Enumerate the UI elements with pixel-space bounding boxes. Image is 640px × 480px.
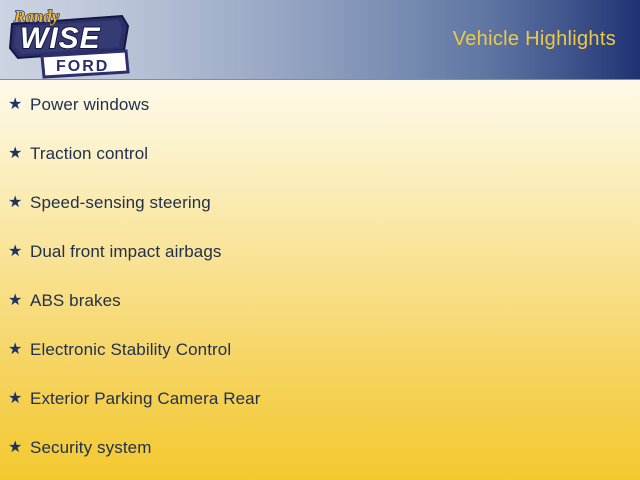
list-item: ★ ABS brakes — [0, 276, 640, 325]
slide-header: WISE Randy FORD Vehicle Highlights — [0, 0, 640, 80]
logo-ford-text: FORD — [56, 58, 109, 75]
list-item: ★ Dual front impact airbags — [0, 227, 640, 276]
logo-randy-script: Randy — [13, 7, 60, 26]
randy-wise-ford-logo: WISE Randy FORD — [4, 2, 136, 84]
feature-label: Electronic Stability Control — [30, 340, 231, 360]
vehicle-features-list: ★ Power windows ★ Traction control ★ Spe… — [0, 80, 640, 472]
star-icon: ★ — [8, 195, 30, 211]
vehicle-highlights-slide: WISE Randy FORD Vehicle Highlights ★ Pow… — [0, 0, 640, 480]
star-icon: ★ — [8, 97, 30, 113]
logo-wise-text: WISE — [20, 22, 101, 55]
star-icon: ★ — [8, 342, 30, 358]
feature-label: Exterior Parking Camera Rear — [30, 389, 261, 409]
feature-label: ABS brakes — [30, 291, 121, 311]
list-item: ★ Power windows — [0, 80, 640, 129]
list-item: ★ Electronic Stability Control — [0, 325, 640, 374]
star-icon: ★ — [8, 391, 30, 407]
feature-label: Speed-sensing steering — [30, 193, 211, 213]
star-icon: ★ — [8, 440, 30, 456]
feature-label: Dual front impact airbags — [30, 242, 221, 262]
feature-label: Traction control — [30, 144, 148, 164]
feature-label: Power windows — [30, 95, 149, 115]
star-icon: ★ — [8, 146, 30, 162]
star-icon: ★ — [8, 244, 30, 260]
list-item: ★ Traction control — [0, 129, 640, 178]
star-icon: ★ — [8, 293, 30, 309]
feature-label: Security system — [30, 438, 151, 458]
page-title: Vehicle Highlights — [453, 28, 616, 51]
list-item: ★ Speed-sensing steering — [0, 178, 640, 227]
list-item: ★ Security system — [0, 423, 640, 472]
list-item: ★ Exterior Parking Camera Rear — [0, 374, 640, 423]
